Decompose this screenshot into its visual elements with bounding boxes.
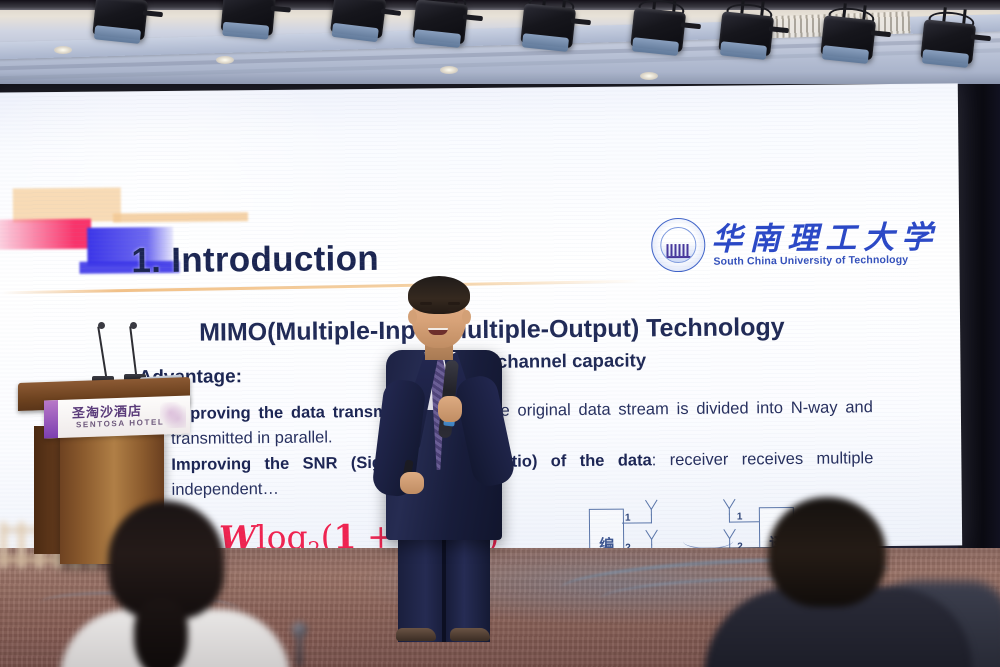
right-wall-strip xyxy=(958,84,1000,564)
university-seal-icon xyxy=(651,218,706,273)
downlight xyxy=(216,56,234,64)
stage-spotlight xyxy=(817,3,884,77)
title-underline xyxy=(2,280,642,295)
presenter-ear xyxy=(462,310,471,324)
logo-chinese-name: 华南理工大学 xyxy=(711,212,939,259)
stage-spotlight xyxy=(917,7,984,81)
downlight xyxy=(640,72,658,80)
presenter-hand xyxy=(400,472,424,494)
presenter-shoe xyxy=(450,628,490,641)
decor-block-peach-2 xyxy=(113,212,248,222)
presenter-eyebrow xyxy=(448,302,460,305)
decor-block-peach xyxy=(13,187,121,222)
stage-spotlight xyxy=(715,0,782,73)
stage-spotlight xyxy=(217,0,283,52)
lectern-sign: 圣淘沙酒店 SENTOSA HOTEL xyxy=(44,395,190,438)
audience-head xyxy=(768,497,886,607)
downlight xyxy=(440,66,458,74)
audience-member xyxy=(60,513,290,667)
stage-spotlight xyxy=(89,0,156,57)
tx-antenna-number: 1 xyxy=(625,513,631,524)
logo-english-name: South China University of Technology xyxy=(713,254,908,268)
presenter-leg-split xyxy=(442,536,446,642)
presenter xyxy=(368,276,518,636)
floor-microphone-head-icon xyxy=(292,622,307,637)
audience-ponytail xyxy=(134,599,188,667)
university-logo: 华南理工大学 South China University of Technol… xyxy=(645,211,946,276)
slide-title: 1. Introduction xyxy=(131,239,379,281)
presenter-eye xyxy=(448,308,457,311)
lectern-sign-accent xyxy=(44,400,58,438)
downlight xyxy=(54,46,72,54)
stage-spotlight xyxy=(326,0,394,55)
stage-spotlight xyxy=(627,0,694,69)
presenter-hair xyxy=(408,276,470,314)
microphone-head-icon xyxy=(98,322,105,329)
presenter-ear xyxy=(408,310,417,324)
presenter-eyebrow xyxy=(420,302,432,305)
presenter-shoe xyxy=(396,628,436,641)
presenter-hand xyxy=(438,396,462,422)
audience-member xyxy=(710,497,960,667)
presenter-eye xyxy=(422,308,431,311)
stage-spotlight xyxy=(409,0,476,61)
decor-block-pink xyxy=(0,219,91,250)
microphone-head-icon xyxy=(130,322,137,329)
presentation-photo: 1. Introduction 华南理工大学 South China Unive… xyxy=(0,0,1000,667)
hotel-name-english: SENTOSA HOTEL xyxy=(76,417,164,429)
stage-spotlight xyxy=(517,0,584,65)
